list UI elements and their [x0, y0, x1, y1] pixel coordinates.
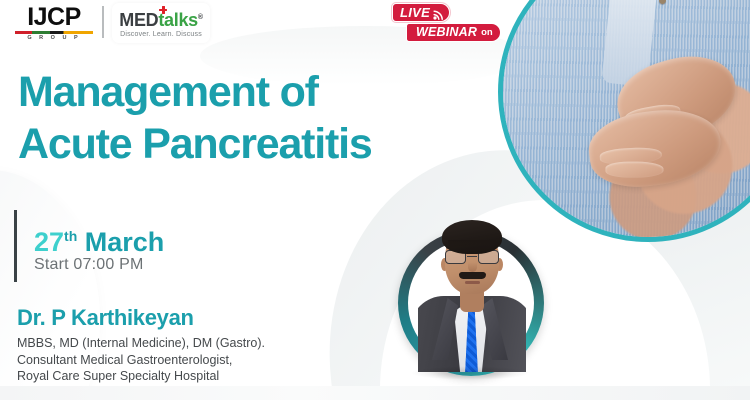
title-line-1: Management of: [18, 66, 518, 118]
speaker-credentials-line-3: Royal Care Super Specialty Hospital: [17, 368, 417, 385]
event-day-ordinal: th: [64, 228, 77, 244]
webinar-poster: IJCP G R O U P MEDtalks® Discover. Learn…: [0, 0, 750, 400]
live-pill: LIVE: [392, 3, 450, 22]
webinar-on-label: on: [481, 27, 493, 38]
speaker-credentials-line-1: MBBS, MD (Internal Medicine), DM (Gastro…: [17, 335, 417, 352]
page-title: Management of Acute Pancreatitis: [18, 66, 518, 170]
title-line-2: Acute Pancreatitis: [18, 118, 518, 170]
registered-mark: ®: [198, 14, 203, 21]
avatar-shadow: [410, 366, 530, 380]
background-bottom-strip: [0, 386, 750, 400]
speaker-avatar: [398, 198, 544, 398]
ijcp-group-label: G R O U P: [27, 35, 80, 41]
event-month: March: [85, 227, 165, 257]
portrait-mustache: [459, 272, 486, 279]
portrait-hair: [442, 220, 502, 254]
schedule-accent-rule: [14, 210, 17, 282]
ijcp-color-rule: [15, 31, 93, 34]
brand-logo-bar: IJCP G R O U P MEDtalks® Discover. Learn…: [0, 0, 420, 46]
ijcp-group-logo[interactable]: IJCP G R O U P: [14, 5, 94, 41]
medtalks-tagline: Discover. Learn. Discuss: [120, 31, 202, 38]
medtalks-logo[interactable]: MEDtalks® Discover. Learn. Discuss: [112, 3, 210, 43]
live-webinar-badge[interactable]: LIVE WEBINAR on: [388, 3, 518, 43]
speaker-name: Dr. P Karthikeyan: [17, 305, 417, 331]
portrait-mouth: [465, 281, 480, 284]
event-day: 27: [34, 227, 64, 257]
medtalks-prefix: MED: [119, 10, 158, 30]
event-date: 27th March: [34, 222, 164, 257]
medical-cross-icon: [159, 6, 167, 14]
speaker-credentials-line-2: Consultant Medical Gastroenterologist,: [17, 352, 417, 369]
logo-divider: [102, 6, 104, 38]
shirt-button: [659, 0, 666, 4]
glasses-bridge: [467, 256, 477, 257]
webinar-pill: WEBINAR on: [406, 23, 501, 42]
live-label: LIVE: [400, 6, 430, 19]
event-start-time: Start 07:00 PM: [34, 256, 144, 274]
speaker-details: Dr. P Karthikeyan MBBS, MD (Internal Med…: [17, 305, 417, 385]
speaker-portrait-photo: [418, 200, 526, 372]
ijcp-wordmark: IJCP: [27, 5, 81, 30]
medtalks-wordmark: MEDtalks®: [119, 8, 203, 30]
broadcast-icon: [433, 7, 444, 19]
webinar-label: WEBINAR: [416, 26, 477, 39]
